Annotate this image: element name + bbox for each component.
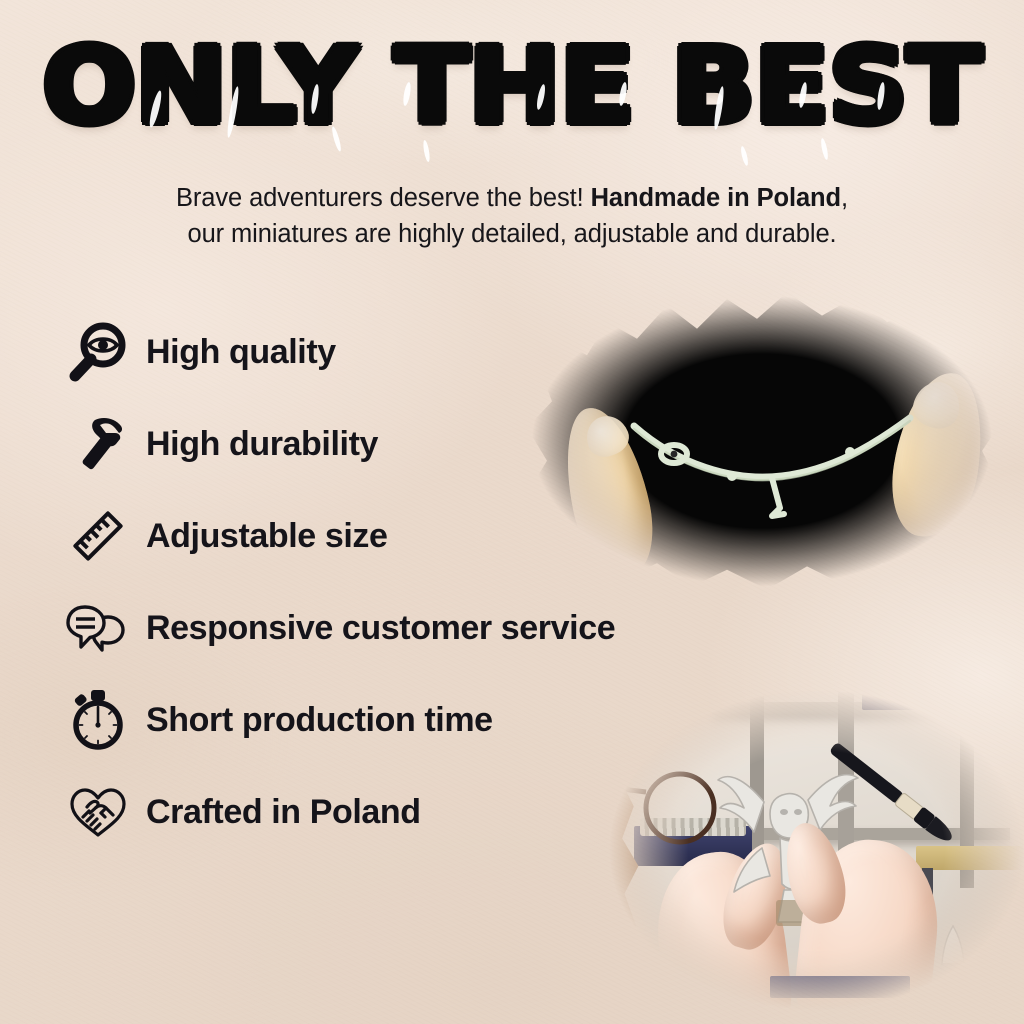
poster-canvas: ONLY THE BEST Brave adventurers deserve … [0, 0, 1024, 1024]
feature-label: High quality [146, 333, 336, 372]
photo-backdrop [512, 276, 1012, 606]
feature-label: Responsive customer service [146, 609, 615, 648]
feature-label: High durability [146, 425, 378, 464]
subtitle: Brave adventurers deserve the best! Hand… [90, 180, 934, 252]
painting-workshop-photo [592, 676, 1024, 1024]
ruler-icon [62, 500, 134, 572]
bench-tray-bottom [770, 976, 910, 998]
heart-handshake-icon [62, 776, 134, 848]
subtitle-bold: Handmade in Poland [591, 184, 841, 212]
feature-label: Adjustable size [146, 517, 388, 556]
stopwatch-icon [62, 684, 134, 756]
flexible-miniature-photo [512, 276, 1012, 606]
miniature-pile-top [868, 678, 1006, 692]
subtitle-tail: , [841, 184, 848, 212]
feature-label: Short production time [146, 701, 493, 740]
miniature-part [622, 404, 922, 524]
chat-bubbles-icon [62, 592, 134, 664]
paintbrush [806, 724, 976, 864]
feature-label: Crafted in Poland [146, 793, 421, 832]
title-gloss-10 [740, 146, 750, 167]
small-miniature [928, 920, 978, 982]
photo-backdrop [592, 676, 1024, 1024]
headline-area: ONLY THE BEST [0, 34, 1024, 138]
subtitle-lead: Brave adventurers deserve the best! [176, 184, 584, 212]
subtitle-line2: our miniatures are highly detailed, adju… [187, 220, 836, 248]
page-title: ONLY THE BEST [43, 34, 982, 138]
hammer-icon [62, 408, 134, 480]
magnifier-eye-icon [62, 316, 134, 388]
